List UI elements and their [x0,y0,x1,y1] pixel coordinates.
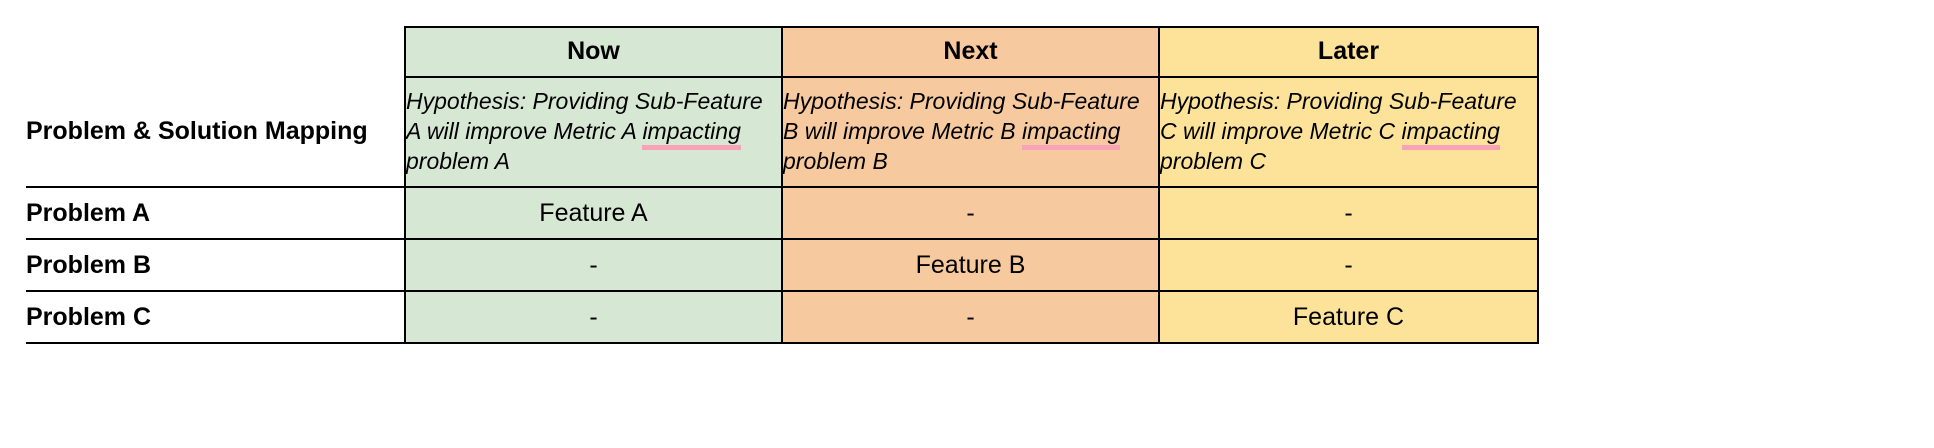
matrix-table: Now Next Later Problem & Solution Mappin… [26,26,1539,344]
cell-problem-b-later: - [1159,239,1538,291]
column-header-next: Next [782,27,1159,77]
row-label-problem-b: Problem B [26,239,405,291]
hypothesis-cell-later: Hypothesis: Providing Sub-Feature C will… [1159,77,1538,187]
hypothesis-row: Problem & Solution Mapping Hypothesis: P… [26,77,1538,187]
table-row: Problem A Feature A - - [26,187,1538,239]
hypothesis-highlight: impacting [642,118,740,150]
problem-solution-mapping-table: Now Next Later Problem & Solution Mappin… [26,26,1538,344]
cell-problem-c-now: - [405,291,782,343]
table-row: Problem C - - Feature C [26,291,1538,343]
row-label-problem-c: Problem C [26,291,405,343]
cell-problem-b-next: Feature B [782,239,1159,291]
hypothesis-text-after: problem A [406,148,510,174]
hypothesis-text-after: problem B [783,148,888,174]
table-row: Problem B - Feature B - [26,239,1538,291]
column-header-later: Later [1159,27,1538,77]
column-header-now: Now [405,27,782,77]
row-label-problem-a: Problem A [26,187,405,239]
hypothesis-cell-next: Hypothesis: Providing Sub-Feature B will… [782,77,1159,187]
cell-problem-a-later: - [1159,187,1538,239]
page-title: Problem & Solution Mapping [26,117,368,145]
corner-cell [26,27,405,77]
hypothesis-highlight: impacting [1022,118,1120,150]
cell-problem-a-next: - [782,187,1159,239]
hypothesis-highlight: impacting [1402,118,1500,150]
header-row: Now Next Later [26,27,1538,77]
cell-problem-c-next: - [782,291,1159,343]
cell-problem-c-later: Feature C [1159,291,1538,343]
hypothesis-cell-now: Hypothesis: Providing Sub-Feature A will… [405,77,782,187]
cell-problem-a-now: Feature A [405,187,782,239]
table-title-cell: Problem & Solution Mapping [26,77,405,187]
cell-problem-b-now: - [405,239,782,291]
hypothesis-text-after: problem C [1160,148,1266,174]
